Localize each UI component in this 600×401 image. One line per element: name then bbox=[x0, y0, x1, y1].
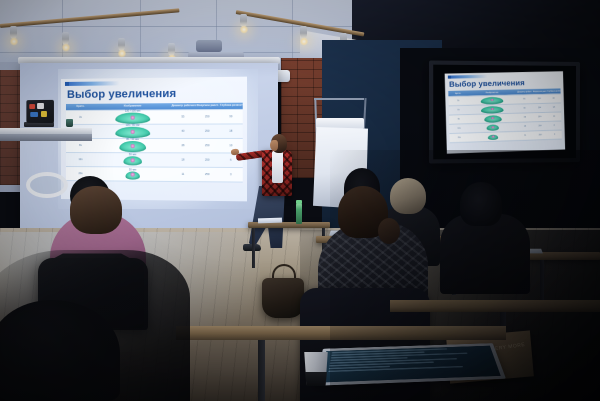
foreground-desk-back bbox=[390, 300, 600, 312]
wall-mounted-tv: Выбор увеличения Кратн. Изображение Диам… bbox=[429, 60, 580, 163]
cell-field: 55 bbox=[516, 97, 532, 101]
tv-col-header-focus: Фокусное расст. (мм) bbox=[532, 89, 547, 95]
cell-focus: 250 bbox=[195, 114, 218, 119]
tv-col-header-field: Диаметр рабочего поля (мм) bbox=[516, 89, 532, 95]
cup-on-counter bbox=[66, 119, 73, 127]
cell-depth: 10 bbox=[547, 115, 561, 119]
table-body: 3x 120 / 100 мм 55 250 30 5x 100 / 80 мм bbox=[66, 110, 243, 183]
attendee-front-left-hair bbox=[70, 186, 122, 234]
slide-accent-bar bbox=[65, 81, 119, 86]
tv-table-body: 3x 55 250 30 5x 40 250 18 bbox=[448, 95, 561, 144]
slide-corner-dot bbox=[65, 82, 69, 86]
lens-illustration-icon bbox=[481, 106, 504, 114]
cell-depth: 3 bbox=[547, 133, 561, 137]
cell-focus: 250 bbox=[532, 115, 546, 119]
cell-mag: 8x bbox=[66, 143, 95, 148]
lens-illustration-icon bbox=[119, 141, 146, 152]
cell-mag: 20x bbox=[450, 136, 470, 141]
cell-focus: 250 bbox=[532, 106, 546, 110]
tv-col-header-mag: Кратн. bbox=[448, 91, 468, 97]
cell-focus: 250 bbox=[533, 124, 547, 128]
cell-depth: 10 bbox=[219, 143, 243, 148]
spotlight-icon bbox=[240, 14, 247, 27]
cell-field: 40 bbox=[517, 106, 533, 110]
cell-focus: 250 bbox=[195, 172, 218, 177]
foreground-laptop bbox=[315, 343, 506, 386]
ceiling-vent bbox=[196, 40, 222, 52]
cell-depth: 6 bbox=[547, 124, 561, 128]
handbag bbox=[262, 278, 304, 318]
cell-mag: 12x bbox=[66, 157, 95, 162]
attendee-right-ponytail bbox=[378, 218, 400, 244]
cell-mag: 3x bbox=[449, 99, 469, 104]
laptop-with-stickers bbox=[26, 100, 54, 123]
cell-image: 50 мм bbox=[95, 153, 170, 168]
foreground-shadow-left bbox=[0, 250, 190, 401]
tv-slide-corner-dot bbox=[448, 76, 451, 79]
slide-table: Кратн. Изображение Диаметр рабочего поля… bbox=[66, 103, 243, 183]
spotlight-icon bbox=[168, 43, 175, 56]
water-bottle-cap bbox=[296, 200, 302, 204]
foreground-desk bbox=[176, 326, 506, 340]
attendee-silhouette-far-right bbox=[460, 182, 502, 226]
cell-field: 28 bbox=[517, 115, 533, 119]
laptop-screen bbox=[320, 346, 501, 383]
cell-image bbox=[469, 123, 518, 133]
cell-focus: 250 bbox=[195, 129, 218, 134]
lens-illustration-icon bbox=[125, 171, 139, 179]
paper-handout bbox=[258, 218, 282, 224]
desk-leg bbox=[252, 228, 255, 268]
attendee-head-blonde bbox=[390, 178, 426, 214]
tv-screen: Выбор увеличения Кратн. Изображение Диам… bbox=[433, 65, 576, 160]
lens-illustration-icon bbox=[487, 125, 499, 131]
spotlight-icon bbox=[300, 26, 307, 39]
lens-illustration-icon bbox=[115, 127, 150, 138]
bar-stool bbox=[26, 172, 68, 198]
water-bottle bbox=[296, 203, 302, 224]
cell-depth: 18 bbox=[547, 106, 561, 110]
cell-mag: 5x bbox=[449, 108, 469, 113]
cell-field: 11 bbox=[170, 172, 195, 177]
spotlight-icon bbox=[62, 32, 69, 45]
table-row: 12x 50 мм 18 250 6 bbox=[66, 153, 243, 168]
lens-illustration-icon bbox=[123, 157, 141, 166]
cell-field: 28 bbox=[170, 143, 195, 148]
cell-focus: 250 bbox=[532, 97, 546, 101]
slide-title: Выбор увеличения bbox=[67, 87, 232, 101]
cell-depth: 30 bbox=[546, 97, 560, 101]
bar-counter-body bbox=[0, 134, 92, 141]
desk-leg bbox=[258, 340, 265, 401]
col-header-depth: Глубина резкости (мм) bbox=[219, 103, 243, 109]
cell-field: 55 bbox=[170, 114, 195, 119]
lens-illustration-icon bbox=[484, 115, 502, 123]
col-header-field: Диаметр рабочего поля (мм) bbox=[170, 103, 195, 109]
cell-focus: 250 bbox=[195, 157, 218, 162]
attendee-body-far-right bbox=[440, 214, 530, 294]
cell-image: 80 / 60 мм bbox=[95, 137, 170, 153]
cell-focus: 250 bbox=[533, 133, 547, 137]
presenter-tshirt bbox=[272, 151, 283, 183]
presenter-face bbox=[270, 140, 278, 151]
cell-depth: 3 bbox=[219, 172, 243, 177]
lens-illustration-icon bbox=[488, 134, 498, 139]
cell-field: 18 bbox=[517, 125, 533, 130]
table-row: 8x 80 / 60 мм 28 250 10 bbox=[66, 139, 243, 154]
col-header-focus: Фокусное расст. (мм) bbox=[195, 103, 218, 109]
cell-focus: 250 bbox=[195, 143, 218, 148]
cell-depth: 30 bbox=[219, 114, 243, 119]
tv-col-header-depth: Глубина резкости (мм) bbox=[546, 88, 560, 94]
cell-image bbox=[469, 133, 518, 142]
conference-room-photo: Выбор увеличения Кратн. Изображение Диам… bbox=[0, 0, 600, 401]
cell-field: 11 bbox=[517, 134, 533, 139]
cell-image: 30 мм bbox=[95, 167, 170, 181]
lens-illustration-icon bbox=[115, 113, 150, 124]
cell-field: 18 bbox=[170, 157, 195, 162]
spotlight-icon bbox=[118, 38, 125, 51]
cell-depth: 18 bbox=[219, 129, 243, 134]
lens-illustration-icon bbox=[481, 97, 504, 105]
tv-slide: Выбор увеличения Кратн. Изображение Диам… bbox=[445, 71, 566, 153]
tv-slide-table: Кратн. Изображение Диаметр рабочего поля… bbox=[448, 88, 562, 143]
flipchart-top-bar bbox=[314, 98, 364, 100]
cell-mag: 8x bbox=[449, 117, 469, 122]
spotlight-icon bbox=[10, 26, 17, 39]
cell-field: 40 bbox=[170, 129, 195, 134]
cell-mag: 12x bbox=[449, 127, 469, 132]
col-header-mag: Кратн. bbox=[66, 104, 95, 110]
